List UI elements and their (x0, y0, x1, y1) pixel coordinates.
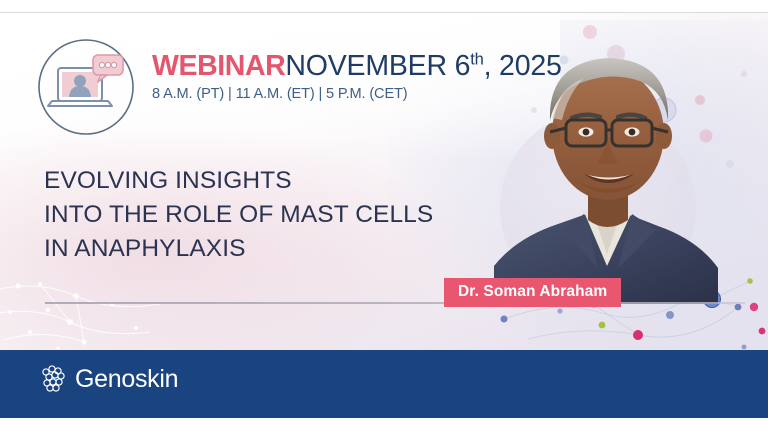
genoskin-logo: Genoskin (40, 365, 178, 393)
header-text-block: WEBINARNOVEMBER 6th, 2025 8 A.M. (PT) | … (152, 52, 622, 102)
webinar-date-suffix: , 2025 (484, 50, 562, 82)
webinar-laptop-icon (36, 37, 136, 137)
webinar-headline: WEBINARNOVEMBER 6th, 2025 (152, 52, 622, 82)
webinar-date-prefix: NOVEMBER 6 (285, 50, 470, 82)
webinar-poster: WEBINARNOVEMBER 6th, 2025 8 A.M. (PT) | … (0, 0, 768, 432)
page-title: EVOLVING INSIGHTS INTO THE ROLE OF MAST … (44, 164, 514, 265)
title-line-2: INTO THE ROLE OF MAST CELLS (44, 198, 514, 232)
top-border-line (0, 12, 768, 13)
genoskin-wordmark: Genoskin (75, 367, 178, 392)
webinar-times: 8 A.M. (PT) | 11 A.M. (ET) | 5 P.M. (CET… (152, 86, 622, 102)
webinar-date-ordinal: th (470, 50, 483, 69)
genoskin-molecule-icon (40, 365, 70, 393)
title-line-3: IN ANAPHYLAXIS (44, 232, 514, 266)
webinar-keyword: WEBINAR (152, 50, 285, 82)
title-line-1: EVOLVING INSIGHTS (44, 164, 514, 198)
section-divider (45, 302, 745, 304)
speaker-name-badge: Dr. Soman Abraham (444, 278, 621, 307)
footer-white-strip (0, 418, 768, 432)
